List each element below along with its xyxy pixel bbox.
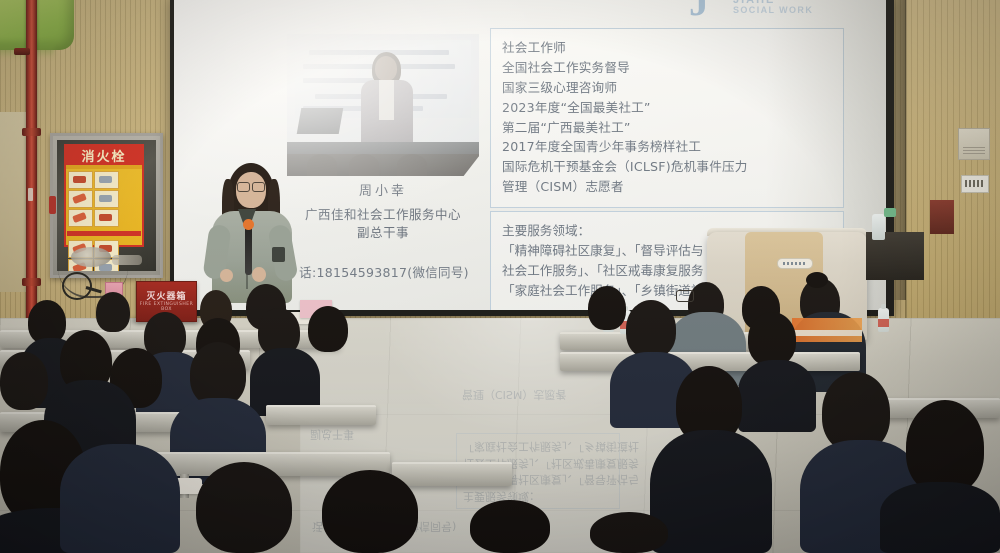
poster-band bbox=[67, 231, 141, 236]
audience-head bbox=[322, 470, 418, 553]
fe-box-title: 灭火器箱 bbox=[137, 289, 196, 302]
credential-line: 2017年度全国青少年事务榜样社工 bbox=[502, 137, 832, 157]
poster-step bbox=[94, 190, 119, 208]
bottle-label bbox=[878, 319, 889, 327]
photo-audience bbox=[287, 154, 479, 176]
audience-head bbox=[190, 342, 246, 406]
audience-head bbox=[748, 312, 796, 366]
presenter-right-hand bbox=[252, 267, 266, 282]
photo-text-line bbox=[303, 78, 373, 83]
lecture-hall-photo: 消火栓 bbox=[0, 0, 1000, 553]
photo-audience-head bbox=[349, 154, 379, 176]
credential-line: 社会工作师 bbox=[502, 38, 832, 58]
credential-line: 国际危机干预基金会（ICLSF)危机事件压力 bbox=[502, 157, 832, 177]
standpipe-collar bbox=[22, 278, 41, 286]
slide-speaker-info: 周小幸 广西佳和社会工作服务中心 副总干事 bbox=[287, 180, 479, 242]
speaker-name: 周小幸 bbox=[287, 180, 479, 199]
photo-laptop bbox=[297, 108, 344, 134]
audience-head bbox=[626, 300, 676, 358]
back-table-green-item bbox=[884, 208, 896, 217]
presenter-glasses bbox=[237, 182, 265, 190]
microphone-windscreen bbox=[243, 219, 254, 230]
photo-person-shirt bbox=[379, 80, 394, 120]
standpipe-collar bbox=[22, 128, 41, 136]
presenter-sleeve-patch bbox=[272, 247, 285, 262]
fire-hose-reel bbox=[71, 247, 111, 267]
audience-head bbox=[308, 306, 348, 352]
audience-head bbox=[906, 400, 984, 494]
photo-audience-head bbox=[307, 154, 337, 176]
audience-body bbox=[738, 360, 816, 432]
speaker-org-line2: 副总干事 bbox=[287, 224, 479, 242]
reflection-org: 副总干事 bbox=[310, 427, 354, 443]
bench-desk bbox=[392, 462, 512, 486]
cabinet-glass: 消火栓 bbox=[57, 140, 156, 271]
left-wall-panel bbox=[0, 112, 27, 292]
vest-reflective-stripe bbox=[792, 330, 862, 336]
credential-line: 国家三级心理咨询师 bbox=[502, 78, 832, 98]
audience-hair-bun bbox=[806, 272, 828, 288]
audience-head bbox=[470, 500, 550, 553]
fe-box-subtitle: FIRE EXTINGUISHER BOX bbox=[137, 302, 196, 312]
audience-head bbox=[0, 352, 48, 410]
speaker-org-line1: 广西佳和社会工作服务中心 bbox=[287, 206, 479, 224]
poster-step bbox=[94, 171, 119, 189]
credentials-box: 社会工作师 全国社会工作实务督导 国家三级心理咨询师 2023年度“全国最美社工… bbox=[490, 28, 844, 208]
wall-vent bbox=[958, 128, 990, 160]
credential-line: 管理（CISM）志愿者 bbox=[502, 177, 832, 197]
standpipe-valve bbox=[14, 48, 30, 55]
back-table-red-item bbox=[930, 200, 954, 234]
bench-desk bbox=[266, 405, 376, 425]
reflection-line: 主要服务领域： bbox=[463, 488, 613, 505]
fire-hose-title: 消火栓 bbox=[66, 146, 142, 165]
fire-hose-nozzle bbox=[112, 255, 142, 265]
logo-monogram-icon: J bbox=[689, 0, 723, 22]
audience-head bbox=[590, 512, 668, 553]
slide-presenter-photo bbox=[287, 34, 479, 176]
audience-head bbox=[588, 286, 626, 330]
standpipe-tag bbox=[28, 188, 33, 201]
presenter-left-hand bbox=[220, 269, 233, 282]
microphone bbox=[245, 225, 252, 275]
audience-body bbox=[650, 430, 772, 553]
audience-body bbox=[880, 482, 1000, 553]
audience-head bbox=[96, 292, 130, 332]
fire-hose-poster: 消火栓 bbox=[64, 144, 144, 247]
photo-person-head bbox=[375, 56, 397, 81]
jiahe-logo: J 佳和社工 JIAHE SOCIAL WORK bbox=[689, 0, 839, 28]
audience-head bbox=[196, 462, 292, 553]
poster-step bbox=[68, 171, 93, 189]
credential-line: 2023年度“全国最美社工” bbox=[502, 98, 832, 118]
audience-glasses bbox=[676, 290, 694, 302]
water-bottle bbox=[878, 308, 889, 332]
poster-steps-top bbox=[66, 169, 142, 229]
wall-sign bbox=[961, 175, 989, 193]
back-table-bottle bbox=[872, 214, 885, 240]
logo-name-en-2: SOCIAL WORK bbox=[733, 5, 813, 15]
photo-audience-head bbox=[397, 154, 427, 176]
presenter-person bbox=[196, 163, 306, 303]
cabinet-latch[interactable] bbox=[49, 196, 56, 214]
poster-step bbox=[68, 209, 93, 227]
reflection-credential: 管理（CISM）志愿者 bbox=[462, 387, 566, 403]
poster-step bbox=[94, 209, 119, 227]
fire-hose-cabinet[interactable]: 消火栓 bbox=[50, 133, 163, 278]
credential-line: 第二届“广西最美社工” bbox=[502, 118, 832, 138]
badminton-racket bbox=[62, 272, 100, 298]
audience-body bbox=[60, 444, 180, 553]
credential-line: 全国社会工作实务督导 bbox=[502, 58, 832, 78]
podium-badge bbox=[777, 258, 813, 269]
reflection-line: 「家庭社会工作服务」、「乡镇街道社 bbox=[463, 438, 613, 455]
poster-step bbox=[68, 190, 93, 208]
